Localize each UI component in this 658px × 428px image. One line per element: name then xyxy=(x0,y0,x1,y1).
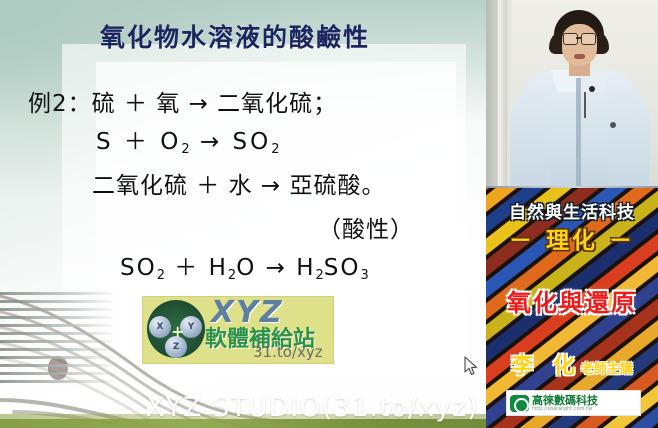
eq4-reactant-1-subscript: 2 xyxy=(157,268,165,283)
eq4-product-a: H xyxy=(296,255,315,281)
eq4-product-a-subscript: 2 xyxy=(316,268,324,283)
eq2-product-subscript: 2 xyxy=(271,142,279,157)
eq2-reactant-2-subscript: 2 xyxy=(181,142,189,157)
eq2-product: SO xyxy=(233,129,272,155)
eq2-arrow: → xyxy=(200,129,222,155)
eq4-reactant-2: H xyxy=(209,255,228,281)
equation-line-3: 二氧化硫 ＋ 水 → 亞硫酸。 xyxy=(92,166,386,200)
screenshot-root: 氧化物水溶液的酸鹼性 例2：硫 ＋ 氧 → 二氧化硫； S ＋ O2 → SO2… xyxy=(0,0,658,428)
instructor-shirt-placket xyxy=(576,78,581,188)
studio-watermark-text: XYZ STUDIO(31.to/xyz) xyxy=(146,392,479,423)
poster-teacher-line: 李 化老師主講 xyxy=(486,348,658,380)
acidity-note: （酸性） xyxy=(318,210,414,244)
instructor-video-feed[interactable] xyxy=(486,0,658,188)
instructor-face xyxy=(562,24,597,66)
instructor-glasses-icon xyxy=(563,33,596,43)
publisher-url: http://soaralight.com.tw xyxy=(532,407,598,412)
eq4-arrow: → xyxy=(266,255,287,281)
poster-course-name: － 理化 － xyxy=(486,221,658,255)
publisher-logo-textblock: 高徠數碼科技 http://soaralight.com.tw xyxy=(532,395,598,412)
xyz-watermark: X Y Z + XYZ 軟體補給站 31.to/xyz xyxy=(142,296,334,364)
video-background-wall-edge xyxy=(498,0,507,188)
publisher-logo-icon xyxy=(510,395,529,412)
poster-teacher-name: 李 化 xyxy=(511,354,581,379)
mouse-cursor-icon xyxy=(464,356,480,376)
equation-line-4: SO2 ＋ H2O → H2SO3 xyxy=(120,248,369,283)
publisher-logo: 高徠數碼科技 http://soaralight.com.tw xyxy=(506,390,641,416)
eq2-reactant-2: O xyxy=(160,129,181,155)
eq4-reactant-2-subscript: 2 xyxy=(228,268,236,283)
instructor-shirt-button-2 xyxy=(577,158,581,162)
xyz-badge-plus: + xyxy=(171,322,184,341)
instructor-pocket-detail xyxy=(610,122,616,128)
instructor-shirt-button-1 xyxy=(577,128,581,132)
presentation-slide[interactable]: 氧化物水溶液的酸鹼性 例2：硫 ＋ 氧 → 二氧化硫； S ＋ O2 → SO2… xyxy=(0,0,486,428)
slide-decoration-stripes xyxy=(0,292,120,382)
page-title: 氧化物水溶液的酸鹼性 xyxy=(0,18,470,54)
eq4-reactant-2-tail: O xyxy=(236,255,256,281)
course-poster[interactable]: 自然與生活科技 － 理化 － 氧化與還原 李 化老師主講 高徠數碼科技 http… xyxy=(486,188,658,428)
equation-line-2: S ＋ O2 → SO2 xyxy=(96,122,280,157)
eq2-plus: ＋ xyxy=(124,129,150,155)
instructor-mouth xyxy=(574,54,585,59)
poster-topic-title: 氧化與還原 xyxy=(486,283,658,318)
instructor-lapel-mic xyxy=(589,86,595,92)
xyz-badge-x: X xyxy=(149,316,171,338)
eq4-product-b: SO xyxy=(324,255,361,281)
xyz-logo-icon: X Y Z + xyxy=(147,300,205,358)
poster-subject-title: 自然與生活科技 xyxy=(486,198,658,223)
video-panel[interactable]: 自然與生活科技 － 理化 － 氧化與還原 李 化老師主講 高徠數碼科技 http… xyxy=(486,0,658,428)
equation-line-1: 例2：硫 ＋ 氧 → 二氧化硫； xyxy=(28,84,337,118)
xyz-url-text: 31.to/xyz xyxy=(253,343,323,361)
poster-teacher-role: 老師主講 xyxy=(581,362,633,377)
instructor-shoulder-left xyxy=(510,96,550,188)
instructor-shoulder-right xyxy=(608,96,650,188)
instructor-mic-cable xyxy=(584,92,586,118)
eq2-reactant-1: S xyxy=(96,129,114,155)
eq4-plus: ＋ xyxy=(174,255,199,281)
eq4-product-b-subscript: 3 xyxy=(360,268,368,283)
publisher-name: 高徠數碼科技 xyxy=(532,395,598,406)
eq4-reactant-1: SO xyxy=(120,255,157,281)
